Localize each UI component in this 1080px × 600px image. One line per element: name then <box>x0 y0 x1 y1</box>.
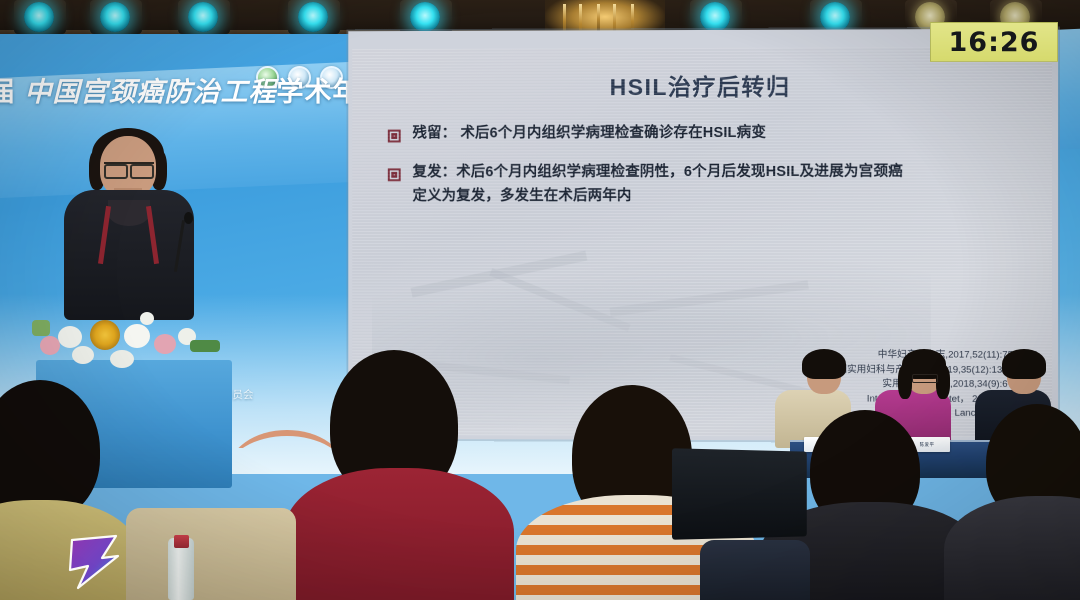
foreground-monitor <box>672 448 807 540</box>
stage-light-icon <box>298 2 328 32</box>
slide-bullet-text: 复发：术后6个月内组织学病理检查阴性，6个月后发现HSIL及进展为宫颈癌 定义为… <box>413 161 903 208</box>
stage-light-icon <box>820 2 850 32</box>
slide-bullet-text: 残留： 术后6个月内组织学病理检查确诊存在HSIL病变 <box>413 122 767 146</box>
speaker-collar <box>108 200 150 226</box>
audience-member <box>290 350 500 600</box>
bullet-line: 复发：术后6个月内组织学病理检查阴性，6个月后发现HSIL及进展为宫颈癌 <box>413 161 903 185</box>
clock-time: 16:26 <box>949 27 1040 58</box>
clock-badge: 16:26 <box>930 22 1058 62</box>
stage-light-icon <box>24 2 54 32</box>
banner-title-prefix: 届 <box>0 77 16 107</box>
slide-bullet-list: 残留： 术后6个月内组织学病理检查确诊存在HSIL病变 复发：术后6个月内组织学… <box>388 121 1038 224</box>
bullet-line: 残留： 术后6个月内组织学病理检查确诊存在HSIL病变 <box>413 122 767 146</box>
podium-area: 邱丽华 <box>28 128 238 358</box>
chair-back <box>700 540 810 600</box>
stage-light-icon <box>700 2 730 32</box>
chair-back <box>126 508 296 600</box>
square-bullet-icon <box>388 130 401 143</box>
conference-hall-photo: 届 中国宫颈癌防治工程学术年会 主办单位 中国优生优育协会妇产专业委员会 <box>0 0 1080 600</box>
banner-title: 届 中国宫颈癌防治工程学术年会 <box>0 70 348 109</box>
slide-bullet-item: 残留： 术后6个月内组织学病理检查确诊存在HSIL病变 <box>388 121 1038 146</box>
square-bullet-icon <box>388 169 401 182</box>
audience-foreground <box>0 350 1080 600</box>
watermark-logo <box>62 532 124 592</box>
audience-shoulders <box>284 468 514 600</box>
audience-member <box>960 400 1080 600</box>
audience-shoulders <box>944 496 1080 600</box>
audience-head <box>0 380 100 520</box>
stage-light-icon <box>188 2 218 32</box>
banner-title-suffix: 学术年会 <box>277 77 352 107</box>
slide-title: HSIL治疗后转归 <box>352 67 1052 103</box>
stage-light-icon <box>100 2 130 32</box>
stage-light-icon <box>410 2 440 32</box>
speaker-glasses-icon <box>104 162 154 176</box>
microphone-icon <box>184 212 193 224</box>
banner-title-script: 中国宫颈癌防治工程 <box>25 77 277 107</box>
slide-bullet-item: 复发：术后6个月内组织学病理检查阴性，6个月后发现HSIL及进展为宫颈癌 定义为… <box>388 161 1038 209</box>
bottle-cap <box>174 535 189 548</box>
bullet-line: 定义为复发，多发生在术后两年内 <box>413 185 903 209</box>
